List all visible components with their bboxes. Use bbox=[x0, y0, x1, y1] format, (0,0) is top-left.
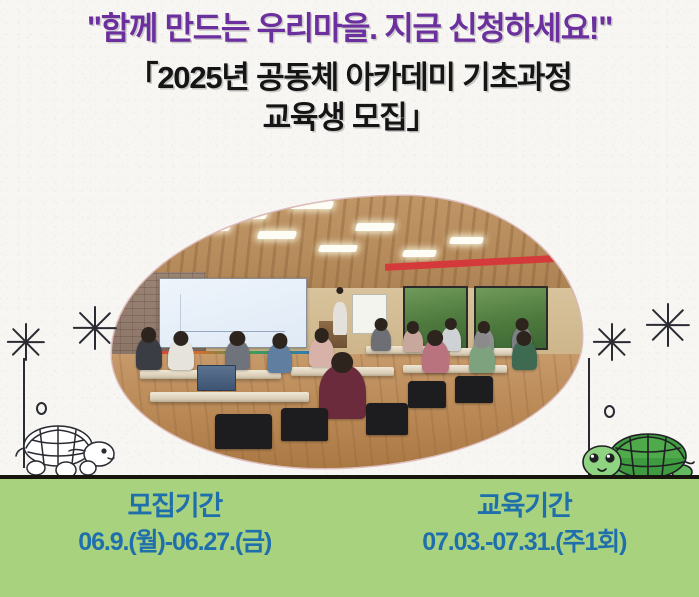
outline-turtle-icon bbox=[14, 418, 118, 480]
photo-person-m1 bbox=[136, 337, 162, 370]
photo-head-b2 bbox=[407, 321, 419, 333]
photo-light-7 bbox=[402, 250, 437, 257]
photo-chair-1 bbox=[215, 414, 271, 449]
sparkle-icon bbox=[592, 322, 632, 362]
photo-person-b2 bbox=[403, 329, 423, 352]
sparkle-icon bbox=[645, 302, 691, 348]
photo-desk-f1 bbox=[150, 392, 310, 402]
photo-chair-4 bbox=[408, 381, 446, 408]
headline-quote: "함께 만드는 우리마을. 지금 신청하세요!" bbox=[0, 10, 699, 48]
photo-chair-2 bbox=[281, 408, 328, 441]
poster-root: "함께 만드는 우리마을. 지금 신청하세요!" 「2025년 공동체 아카데미… bbox=[0, 0, 699, 597]
photo-person-m4 bbox=[267, 343, 292, 373]
photo-person-m8 bbox=[512, 340, 537, 370]
photo-person-b1 bbox=[371, 327, 392, 351]
education-period-label: 교육기간 bbox=[477, 491, 572, 522]
photo-chair-5 bbox=[455, 376, 493, 403]
photo-light-1 bbox=[224, 210, 269, 219]
photo-presenter bbox=[333, 302, 347, 335]
photo-head-m7 bbox=[474, 333, 489, 348]
page-title: 「2025년 공동체 아카데미 기초과정 교육생 모집」 bbox=[0, 58, 699, 139]
photo-head-m1 bbox=[141, 327, 157, 343]
page-title-line-1: 「2025년 공동체 아카데미 기초과정 bbox=[0, 58, 699, 98]
photo-light-3 bbox=[191, 223, 231, 231]
info-column-recruitment: 모집기간 06.9.(월)-06.27.(금) bbox=[0, 479, 350, 597]
photo-head-f1 bbox=[331, 352, 353, 374]
photo-light-6 bbox=[318, 245, 358, 252]
page-title-line-2: 교육생 모집」 bbox=[0, 98, 699, 138]
photo-head-b3 bbox=[445, 318, 457, 330]
photo-person-m6 bbox=[422, 340, 448, 373]
photo-chair-3 bbox=[366, 403, 408, 436]
photo-light-4 bbox=[257, 231, 297, 239]
classroom-photo bbox=[112, 196, 582, 468]
info-band: 모집기간 06.9.(월)-06.27.(금) 교육기간 07.03.-07.3… bbox=[0, 479, 699, 597]
photo-head-b5 bbox=[515, 318, 528, 331]
photo-head-m2 bbox=[173, 331, 188, 346]
recruitment-period-value: 06.9.(월)-06.27.(금) bbox=[78, 528, 271, 557]
photo-light-5 bbox=[355, 223, 395, 231]
photo-head-m8 bbox=[517, 331, 532, 346]
info-column-education: 교육기간 07.03.-07.31.(주1회) bbox=[350, 479, 699, 597]
photo-head-m5 bbox=[314, 328, 329, 343]
photo-head-m4 bbox=[272, 333, 287, 348]
photo-blob-mask bbox=[112, 196, 582, 468]
photo-person-m2 bbox=[168, 340, 193, 370]
photo-light-2 bbox=[289, 201, 334, 209]
sparkle-icon bbox=[6, 322, 46, 362]
photo-laptop bbox=[197, 365, 237, 391]
photo-person-m7 bbox=[469, 343, 494, 373]
recruitment-period-label: 모집기간 bbox=[127, 491, 222, 522]
bubble-icon bbox=[604, 405, 615, 418]
photo-person-m5 bbox=[309, 337, 333, 367]
sparkle-icon bbox=[72, 305, 118, 351]
bubble-icon bbox=[36, 402, 47, 415]
headline-block: "함께 만드는 우리마을. 지금 신청하세요!" 「2025년 공동체 아카데미… bbox=[0, 10, 699, 138]
photo-head-b4 bbox=[478, 321, 490, 333]
photo-head-m6 bbox=[427, 330, 443, 346]
photo-light-8 bbox=[449, 237, 484, 244]
photo-head-b1 bbox=[374, 318, 387, 331]
photo-head-m3 bbox=[230, 331, 245, 346]
education-period-value: 07.03.-07.31.(주1회) bbox=[422, 528, 626, 557]
